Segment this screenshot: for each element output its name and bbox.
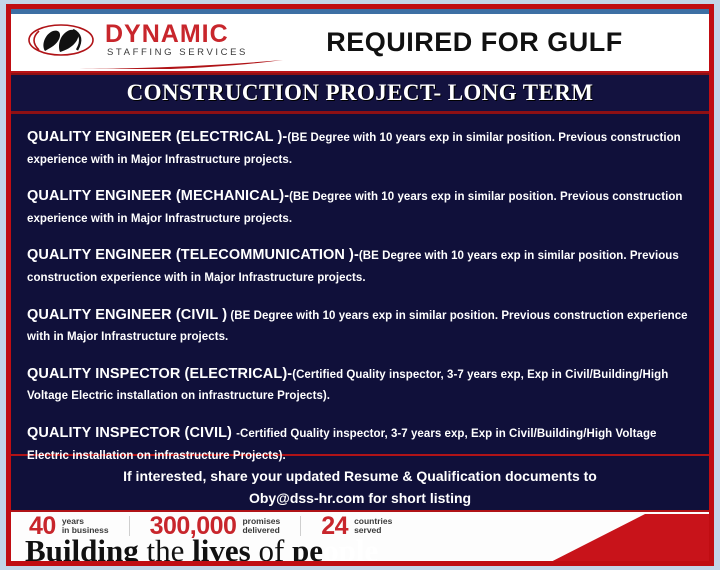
company-subtitle: STAFFING SERVICES <box>107 48 248 58</box>
company-name: DYNAMIC <box>105 22 229 47</box>
poster-header: DYNAMIC STAFFING SERVICES REQUIRED FOR G… <box>11 9 709 73</box>
poster-footer: 40 years in business 300,000 promises de… <box>11 510 709 566</box>
tagline-word-lives: lives <box>192 533 251 566</box>
job-title: QUALITY ENGINEER (CIVIL ) <box>27 307 227 323</box>
job-title: QUALITY ENGINEER (ELECTRICAL )- <box>27 129 287 145</box>
contact-email[interactable]: Oby@dss-hr.com for short listing <box>21 488 699 510</box>
company-logo: DYNAMIC STAFFING SERVICES <box>11 9 266 71</box>
tagline-word-of: of <box>251 533 292 566</box>
company-tagline: Building the lives of people <box>25 535 378 566</box>
job-listing: QUALITY ENGINEER (MECHANICAL)-(BE Degree… <box>27 185 693 228</box>
subtitle-bar: CONSTRUCTION PROJECT- LONG TERM <box>11 73 709 114</box>
poster-frame: DYNAMIC STAFFING SERVICES REQUIRED FOR G… <box>6 4 714 566</box>
footer-blue-line <box>11 562 709 566</box>
contact-instruction: If interested, share your updated Resume… <box>21 466 699 488</box>
page-title: REQUIRED FOR GULF <box>266 23 709 58</box>
tagline-word-ople: ople <box>323 533 378 566</box>
job-title: QUALITY INSPECTOR (CIVIL) <box>27 425 236 441</box>
job-listings: QUALITY ENGINEER (ELECTRICAL )-(BE Degre… <box>11 114 709 454</box>
job-listing: QUALITY ENGINEER (CIVIL ) (BE Degree wit… <box>27 304 693 347</box>
recruitment-poster: DYNAMIC STAFFING SERVICES REQUIRED FOR G… <box>0 0 720 570</box>
tagline-word-the: the <box>139 533 192 566</box>
job-listing: QUALITY INSPECTOR (ELECTRICAL)-(Certifie… <box>27 363 693 406</box>
logo-swoosh-icon <box>73 58 283 69</box>
job-title: QUALITY ENGINEER (TELECOMMUNICATION )- <box>27 247 359 263</box>
tagline-row: Building the lives of people <box>11 540 709 566</box>
job-listing: QUALITY INSPECTOR (CIVIL) -Certified Qua… <box>27 422 693 465</box>
job-listing: QUALITY ENGINEER (ELECTRICAL )-(BE Degre… <box>27 126 693 169</box>
job-title: QUALITY INSPECTOR (ELECTRICAL)- <box>27 366 292 382</box>
project-subtitle: CONSTRUCTION PROJECT- LONG TERM <box>127 80 594 106</box>
dss-monogram-icon <box>27 21 99 59</box>
job-title: QUALITY ENGINEER (MECHANICAL)- <box>27 188 289 204</box>
job-listing: QUALITY ENGINEER (TELECOMMUNICATION )-(B… <box>27 244 693 287</box>
tagline-word-building: Building <box>25 533 139 566</box>
tagline-word-pe: pe <box>292 533 323 566</box>
